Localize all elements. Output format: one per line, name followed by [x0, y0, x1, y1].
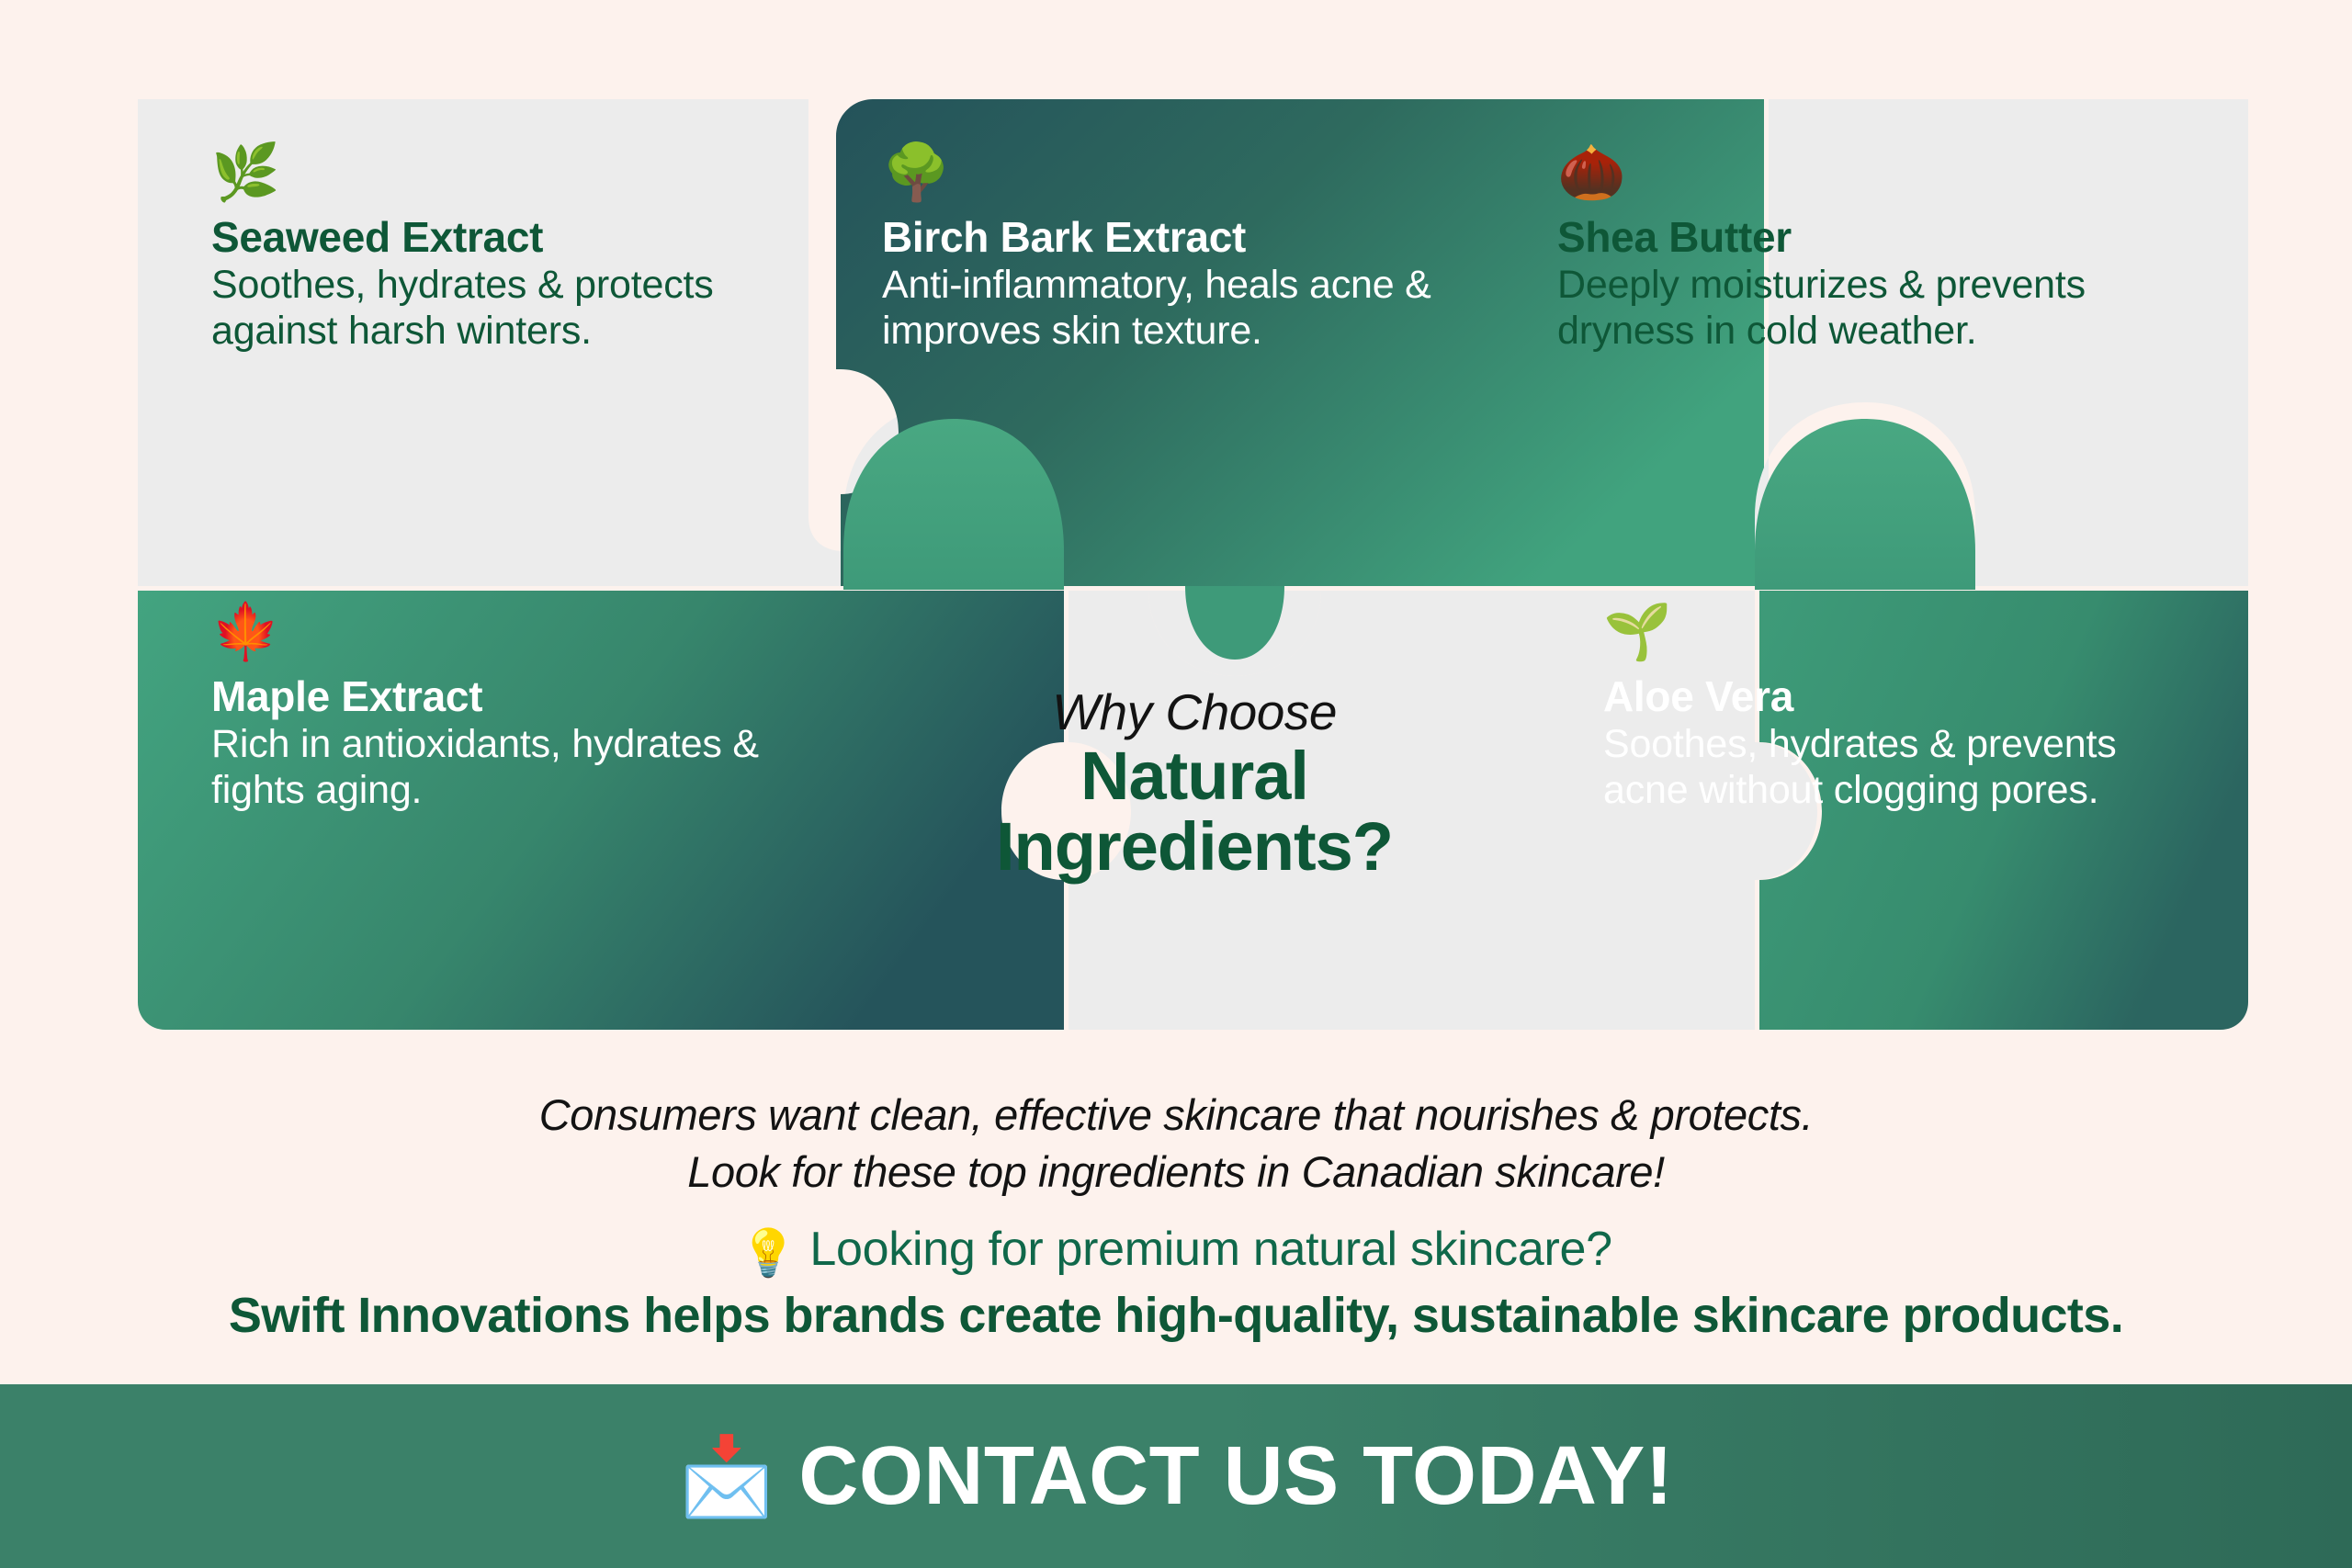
piece-seaweed: 🌿 Seaweed Extract Soothes, hydrates & pr… — [211, 145, 781, 354]
piece-birch-title: Birch Bark Extract — [882, 215, 1452, 261]
piece-birch: 🌳 Birch Bark Extract Anti-inflammatory, … — [882, 145, 1452, 354]
contact-us-today-label: CONTACT US TODAY! — [798, 1435, 1673, 1517]
tagline-line-2: Look for these top ingredients in Canadi… — [0, 1144, 2352, 1201]
center-headline-line-1: Natural — [836, 741, 1553, 812]
piece-aloe: 🌱 Aloe Vera Soothes, hydrates & prevents… — [1603, 604, 2173, 813]
tagline: Consumers want clean, effective skincare… — [0, 1087, 2352, 1201]
piece-aloe-description: Soothes, hydrates & prevents acne withou… — [1603, 722, 2173, 814]
piece-maple: 🍁 Maple Extract Rich in antioxidants, hy… — [211, 604, 763, 813]
lightbulb-icon: 💡 — [740, 1227, 797, 1279]
piece-shea: 🌰 Shea Butter Deeply moisturizes & preve… — [1557, 145, 2145, 354]
shea-nut-icon: 🌰 — [1557, 145, 2145, 206]
aloe-vera-icon: 🌱 — [1603, 604, 2173, 665]
cta-line-1: 💡 Looking for premium natural skincare? — [0, 1220, 2352, 1281]
contact-banner[interactable]: 📩 CONTACT US TODAY! — [0, 1384, 2352, 1568]
puzzle-board: 🌿 Seaweed Extract Soothes, hydrates & pr… — [138, 99, 2248, 1030]
piece-maple-title: Maple Extract — [211, 674, 763, 720]
piece-maple-description: Rich in antioxidants, hydrates & fights … — [211, 722, 763, 814]
seaweed-icon: 🌿 — [211, 145, 781, 206]
piece-seaweed-description: Soothes, hydrates & protects against har… — [211, 263, 781, 355]
puzzle-tab-aloe-top — [1755, 419, 1975, 590]
maple-leaf-icon: 🍁 — [211, 604, 763, 665]
piece-center: Why Choose Natural Ingredients? — [836, 687, 1553, 883]
center-kicker: Why Choose — [836, 687, 1553, 738]
infographic-root: 🌿 Seaweed Extract Soothes, hydrates & pr… — [0, 0, 2352, 1568]
birch-tree-icon: 🌳 — [882, 145, 1452, 206]
cta-line-2: Swift Innovations helps brands create hi… — [0, 1285, 2352, 1347]
piece-aloe-title: Aloe Vera — [1603, 674, 2173, 720]
piece-birch-description: Anti-inflammatory, heals acne & improves… — [882, 263, 1452, 355]
tagline-line-1: Consumers want clean, effective skincare… — [0, 1087, 2352, 1144]
piece-seaweed-title: Seaweed Extract — [211, 215, 781, 261]
envelope-incoming-icon: 📩 — [679, 1438, 775, 1515]
piece-shea-title: Shea Butter — [1557, 215, 2145, 261]
piece-shea-description: Deeply moisturizes & prevents dryness in… — [1557, 263, 2145, 355]
cta-line-1-text: Looking for premium natural skincare? — [809, 1223, 1611, 1276]
center-headline-line-2: Ingredients? — [836, 812, 1553, 883]
cta-block: 💡 Looking for premium natural skincare? … — [0, 1220, 2352, 1347]
